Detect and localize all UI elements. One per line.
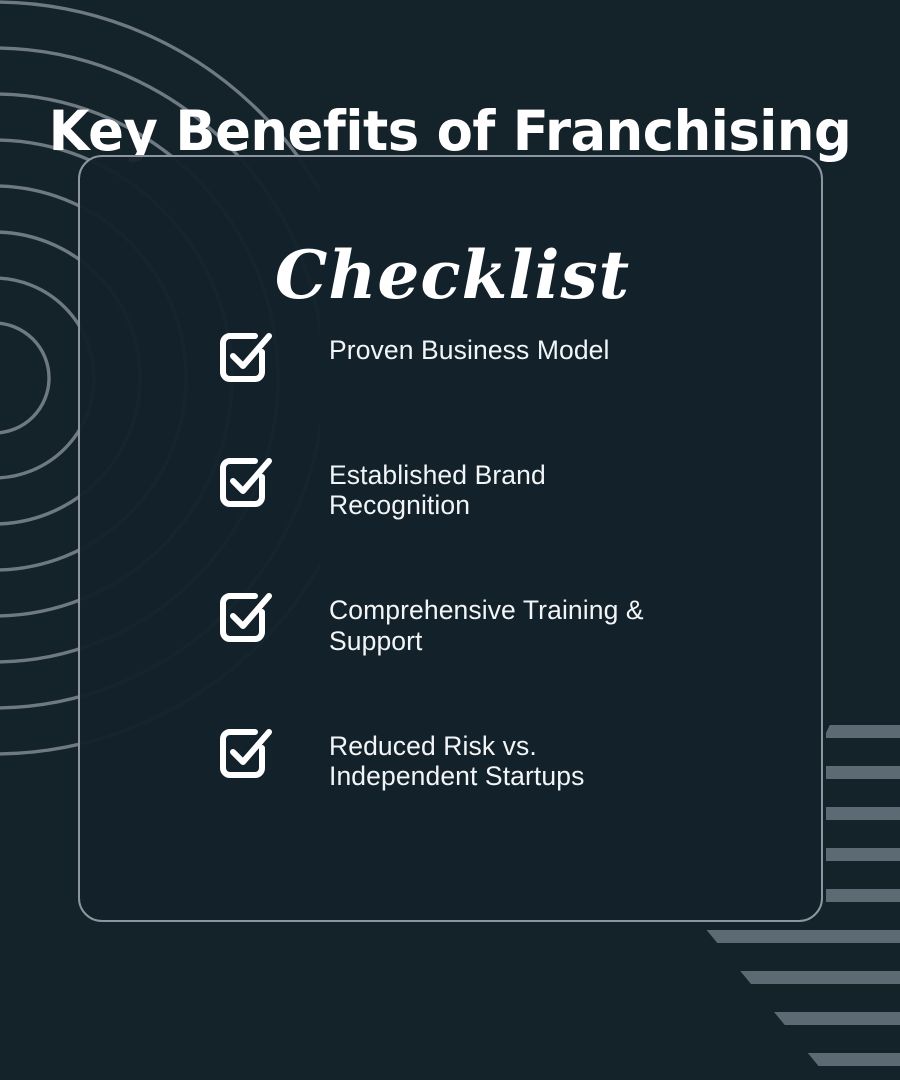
checklist: Proven Business Model Established Brand …	[217, 327, 797, 791]
list-item-label: Reduced Risk vs. Independent Startups	[329, 723, 584, 791]
card-heading: Checklist	[80, 238, 825, 314]
list-item[interactable]: Comprehensive Training & Support	[217, 587, 797, 655]
checklist-card: Checklist Proven Business Model	[78, 155, 823, 922]
list-item-label: Comprehensive Training & Support	[329, 587, 644, 655]
list-item[interactable]: Proven Business Model	[217, 327, 797, 385]
list-item-label-line: Proven Business Model	[329, 335, 610, 365]
list-item-label: Established Brand Recognition	[329, 452, 546, 520]
list-item-label-line: Comprehensive Training &	[329, 595, 644, 625]
list-item-label-line: Support	[329, 626, 644, 656]
list-item-label-line: Recognition	[329, 490, 546, 520]
page-title: Key Benefits of Franchising	[18, 103, 882, 161]
checkbox-checked-icon[interactable]	[217, 452, 275, 510]
list-item-label: Proven Business Model	[329, 327, 610, 365]
diagonal-stripes-decoration-lower	[690, 930, 900, 1066]
list-item-label-line: Established Brand	[329, 460, 546, 490]
list-item[interactable]: Established Brand Recognition	[217, 452, 797, 520]
list-item-label-line: Reduced Risk vs.	[329, 731, 584, 761]
poster-canvas: Key Benefits of Franchising Checklist Pr…	[0, 0, 900, 1080]
checkbox-checked-icon[interactable]	[217, 723, 275, 781]
diagonal-stripes-decoration-upper	[820, 725, 900, 902]
list-item[interactable]: Reduced Risk vs. Independent Startups	[217, 723, 797, 791]
checkbox-checked-icon[interactable]	[217, 327, 275, 385]
checkbox-checked-icon[interactable]	[217, 587, 275, 645]
list-item-label-line: Independent Startups	[329, 761, 584, 791]
